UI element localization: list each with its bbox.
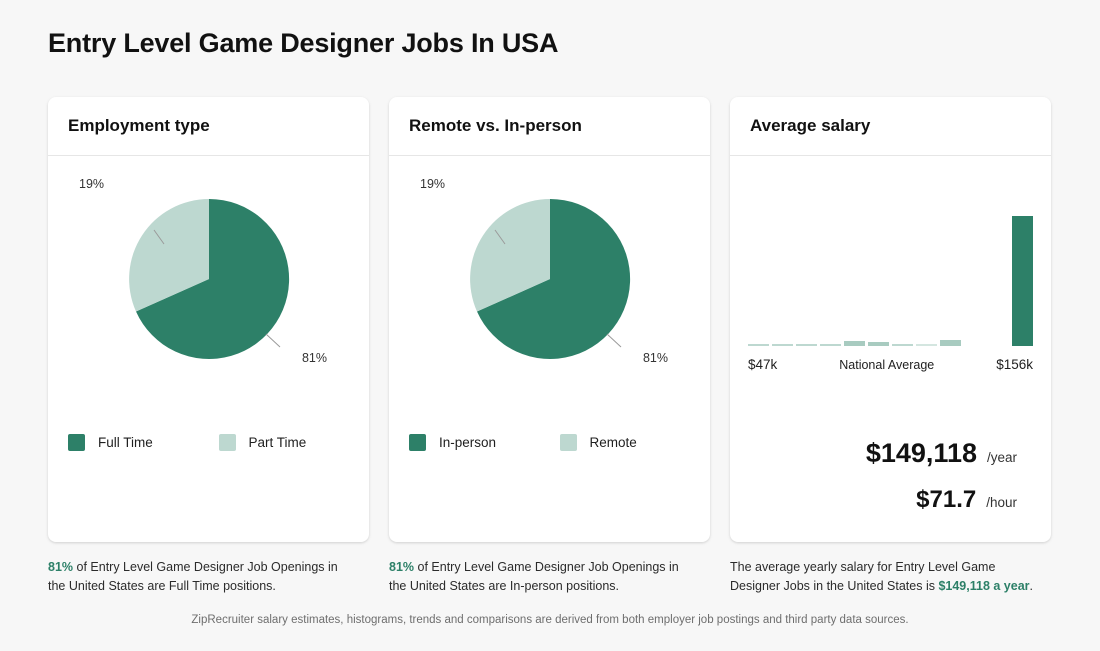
salary-hourly-row: $71.7 /hour bbox=[730, 486, 1017, 514]
card-body-remote-vs-inperson: 19% 81% In-person Remote bbox=[389, 156, 710, 542]
note-highlight: 81% bbox=[48, 560, 73, 574]
pie-chart-employment-type: 19% 81% bbox=[48, 156, 369, 436]
legend-label: Remote bbox=[590, 435, 637, 450]
histogram-bar bbox=[1012, 216, 1033, 346]
histogram-bars bbox=[748, 216, 1033, 346]
note-text-suffix: . bbox=[1030, 579, 1033, 593]
note-highlight: 81% bbox=[389, 560, 414, 574]
pie-label-primary: 81% bbox=[301, 351, 326, 365]
legend-item-full-time: Full Time bbox=[68, 434, 219, 451]
salary-summary: $149,118 /year $71.7 /hour bbox=[730, 432, 1051, 542]
histogram-bar bbox=[820, 344, 841, 346]
legend-item-part-time: Part Time bbox=[219, 434, 370, 451]
legend-item-remote: Remote bbox=[560, 434, 711, 451]
histogram-bar bbox=[796, 344, 817, 346]
axis-label-max: $156k bbox=[996, 357, 1033, 372]
legend-label: Part Time bbox=[249, 435, 307, 450]
legend-swatch-icon bbox=[560, 434, 577, 451]
histogram-axis-labels: $47k National Average $156k bbox=[748, 357, 1033, 372]
note-text: of Entry Level Game Designer Job Opening… bbox=[48, 560, 338, 593]
card-column-remote-vs-inperson: Remote vs. In-person 19% 81% bbox=[389, 97, 710, 597]
axis-label-national-average: National Average bbox=[839, 358, 934, 372]
pie-label-secondary: 19% bbox=[79, 177, 104, 191]
pie-label-secondary: 19% bbox=[420, 177, 445, 191]
histogram-bar bbox=[772, 344, 793, 346]
card-header-average-salary: Average salary bbox=[730, 97, 1051, 156]
card-title: Employment type bbox=[68, 116, 210, 136]
axis-label-min: $47k bbox=[748, 357, 777, 372]
card-remote-vs-inperson: Remote vs. In-person 19% 81% bbox=[389, 97, 710, 542]
card-employment-type: Employment type bbox=[48, 97, 369, 542]
pie-label-layer: 19% 81% bbox=[59, 164, 359, 394]
histogram-bar bbox=[748, 344, 769, 346]
salary-hourly-value: $71.7 bbox=[916, 486, 976, 514]
salary-hourly-unit: /hour bbox=[986, 495, 1017, 510]
card-column-employment-type: Employment type bbox=[48, 97, 369, 597]
legend-swatch-icon bbox=[219, 434, 236, 451]
page-title: Entry Level Game Designer Jobs In USA bbox=[48, 28, 558, 59]
legend-label: Full Time bbox=[98, 435, 153, 450]
card-body-average-salary: $47k National Average $156k $149,118 /ye… bbox=[730, 156, 1051, 542]
legend-label: In-person bbox=[439, 435, 496, 450]
card-title: Remote vs. In-person bbox=[409, 116, 582, 136]
card-column-average-salary: Average salary $47k National Average $15… bbox=[730, 97, 1051, 597]
disclaimer-text: ZipRecruiter salary estimates, histogram… bbox=[0, 614, 1100, 626]
salary-stats-page: Entry Level Game Designer Jobs In USA Em… bbox=[0, 0, 1100, 651]
note-average-salary: The average yearly salary for Entry Leve… bbox=[730, 558, 1040, 597]
legend-swatch-icon bbox=[409, 434, 426, 451]
note-highlight: $149,118 a year bbox=[938, 579, 1029, 593]
legend-employment-type: Full Time Part Time bbox=[48, 434, 369, 451]
histogram-bar bbox=[916, 344, 937, 346]
card-average-salary: Average salary $47k National Average $15… bbox=[730, 97, 1051, 542]
pie-chart-remote-vs-inperson: 19% 81% bbox=[389, 156, 710, 436]
histogram-bar bbox=[868, 342, 889, 346]
salary-histogram: $47k National Average $156k bbox=[730, 156, 1051, 406]
card-header-employment-type: Employment type bbox=[48, 97, 369, 156]
legend-swatch-icon bbox=[68, 434, 85, 451]
histogram-bar bbox=[940, 340, 961, 347]
note-text: of Entry Level Game Designer Job Opening… bbox=[389, 560, 679, 593]
legend-item-in-person: In-person bbox=[409, 434, 560, 451]
histogram-bar bbox=[892, 344, 913, 346]
note-employment-type: 81% of Entry Level Game Designer Job Ope… bbox=[48, 558, 358, 597]
pie-label-primary: 81% bbox=[642, 351, 667, 365]
legend-remote-vs-inperson: In-person Remote bbox=[389, 434, 710, 451]
cards-row: Employment type bbox=[48, 97, 1052, 597]
histogram-bar bbox=[844, 341, 865, 346]
salary-yearly-value: $149,118 bbox=[866, 438, 977, 469]
card-title: Average salary bbox=[750, 116, 870, 136]
salary-yearly-unit: /year bbox=[987, 450, 1017, 465]
card-body-employment-type: 19% 81% Full Time Part Time bbox=[48, 156, 369, 542]
card-header-remote-vs-inperson: Remote vs. In-person bbox=[389, 97, 710, 156]
pie-label-layer: 19% 81% bbox=[400, 164, 700, 394]
note-remote-vs-inperson: 81% of Entry Level Game Designer Job Ope… bbox=[389, 558, 699, 597]
salary-yearly-row: $149,118 /year bbox=[730, 438, 1017, 469]
